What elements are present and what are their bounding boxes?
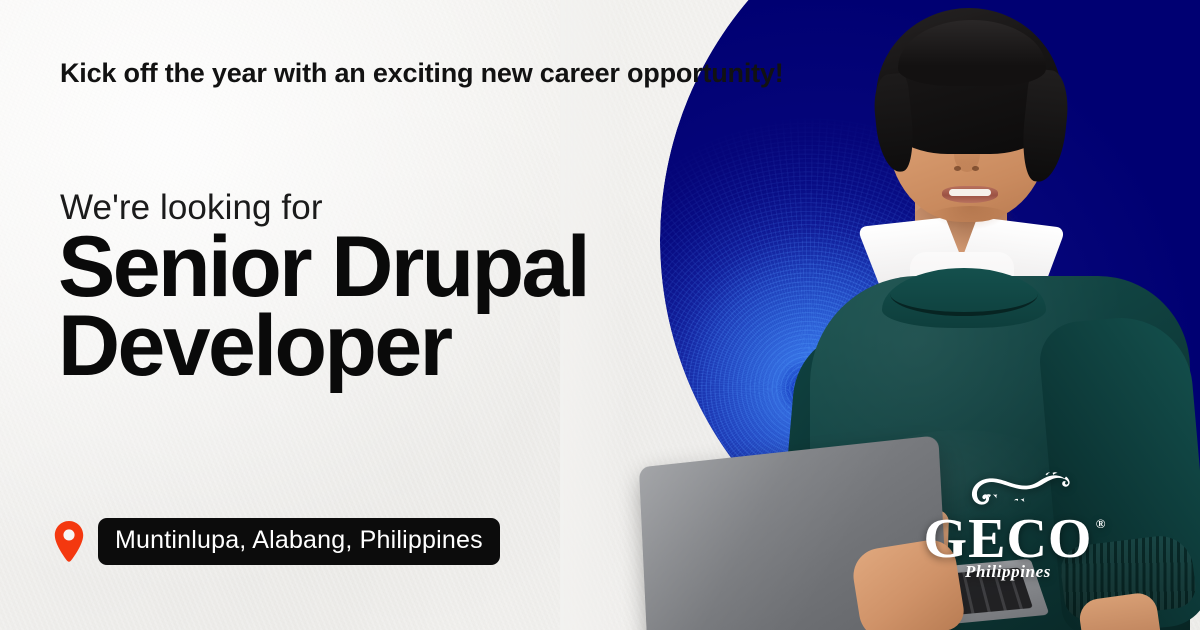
location-row: Muntinlupa, Alabang, Philippines [54,518,500,565]
job-posting-banner: Kick off the year with an exciting new c… [0,0,1200,630]
subject-photo [610,0,1200,630]
map-pin-icon [54,521,84,563]
page-title: Senior Drupal Developer [58,228,698,386]
logo-wordmark-text: GECO [924,508,1093,570]
sweater-collar-rim [890,272,1038,316]
subject-nostril-left [954,166,961,171]
logo-wordmark: GECO ® [924,514,1093,566]
subject-teeth [949,189,991,196]
job-title-line-2: Developer [58,307,698,386]
tagline: Kick off the year with an exciting new c… [60,58,784,89]
geco-logo: GECO ® Philippines [922,470,1094,588]
subject-nostril-right [972,166,979,171]
location-badge: Muntinlupa, Alabang, Philippines [98,518,500,565]
subject-chin-shading [928,206,1012,230]
registered-trademark-icon: ® [1096,518,1107,530]
job-title-line-1: Senior Drupal [58,228,698,307]
